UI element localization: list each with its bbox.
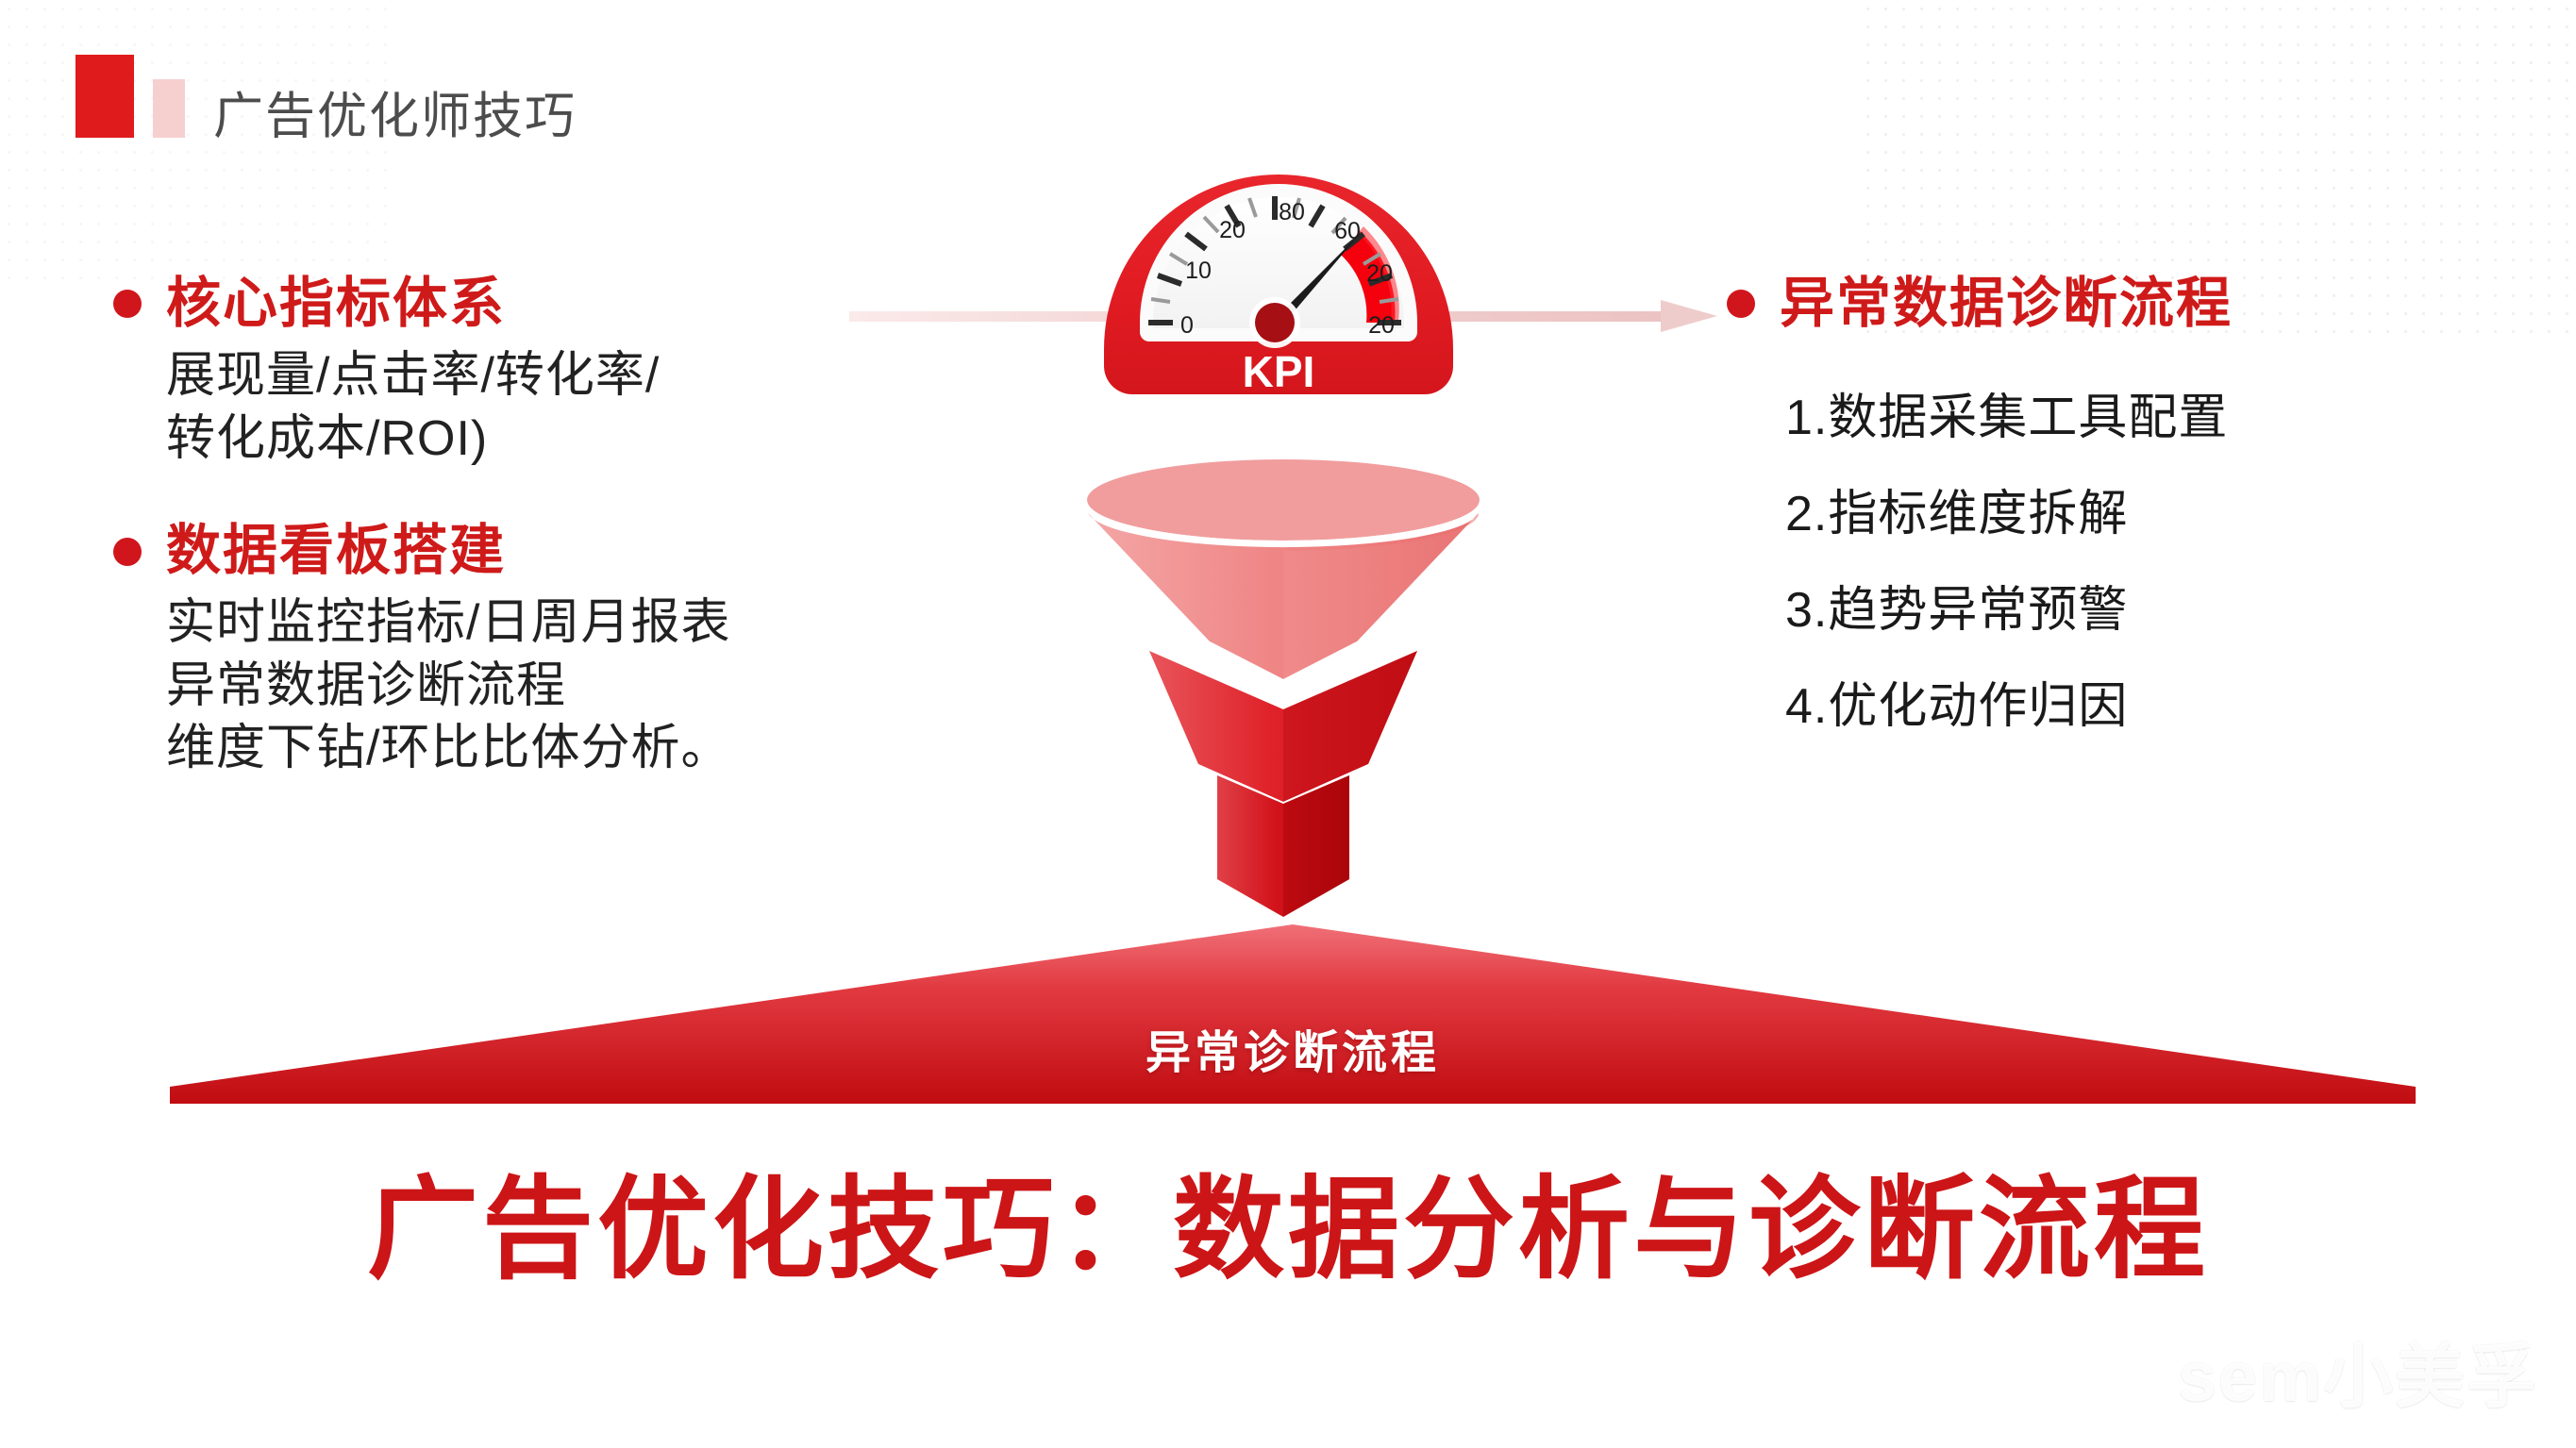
list-item: 1.数据采集工具配置: [1785, 393, 2557, 442]
left-block-body: 实时监控指标/日周月报表 异常数据诊断流程 维度下钻/环比比体分析。: [166, 591, 1076, 780]
process-banner: 异常诊断流程: [170, 924, 2416, 1104]
svg-text:10: 10: [1185, 258, 1212, 284]
bullet-icon: [113, 290, 142, 318]
svg-text:20: 20: [1368, 312, 1395, 339]
header-accent-bar-solid: [75, 55, 134, 138]
svg-text:60: 60: [1334, 218, 1361, 244]
left-block-heading: 数据看板搭建: [113, 521, 1076, 582]
right-block-heading: 异常数据诊断流程: [1727, 274, 2557, 335]
list-item: 4.优化动作归因: [1785, 682, 2557, 731]
left-block-dashboard: 数据看板搭建 实时监控指标/日周月报表 异常数据诊断流程 维度下钻/环比比体分析…: [113, 521, 1076, 780]
slide-canvas: 广告优化师技巧: [0, 0, 2576, 1448]
watermark: sem小美孚: [2178, 1321, 2538, 1422]
page-title: 广告优化技巧：数据分析与诊断流程: [0, 1174, 2576, 1286]
bullet-icon: [1727, 290, 1755, 318]
left-block-body: 展现量/点击率/转化率/ 转化成本/ROI): [166, 344, 1076, 470]
header: 广告优化师技巧: [75, 55, 577, 138]
arrow-head-icon: [1661, 300, 1717, 332]
header-accent-bar-tint: [153, 79, 185, 138]
left-content-column: 核心指标体系 展现量/点击率/转化率/ 转化成本/ROI) 数据看板搭建 实时监…: [113, 274, 1076, 831]
funnel-icon: [1085, 453, 1481, 924]
diagnosis-steps-list: 1.数据采集工具配置 2.指标维度拆解 3.趋势异常预警 4.优化动作归因: [1785, 393, 2557, 731]
svg-text:20: 20: [1219, 217, 1246, 243]
left-block-title: 数据看板搭建: [166, 521, 506, 582]
right-block-title: 异常数据诊断流程: [1780, 274, 2233, 335]
kpi-gauge: 0 10 20 80 60 20 20 KPI: [1095, 66, 1463, 415]
kpi-gauge-label: KPI: [1243, 347, 1315, 396]
conversion-funnel: [1085, 453, 1481, 924]
body-line: 实时监控指标/日周月报表: [166, 591, 1076, 655]
right-content-column: 异常数据诊断流程 1.数据采集工具配置 2.指标维度拆解 3.趋势异常预警 4.…: [1727, 274, 2557, 778]
left-block-heading: 核心指标体系: [113, 274, 1076, 335]
body-line: 维度下钻/环比比体分析。: [166, 717, 1076, 780]
list-item: 2.指标维度拆解: [1785, 490, 2557, 539]
body-line: 转化成本/ROI): [166, 408, 1076, 471]
svg-text:20: 20: [1366, 260, 1393, 287]
svg-text:0: 0: [1180, 312, 1194, 339]
body-line: 展现量/点击率/转化率/: [166, 344, 1076, 408]
header-title: 广告优化师技巧: [213, 92, 577, 141]
left-block-title: 核心指标体系: [166, 274, 506, 335]
bullet-icon: [113, 538, 142, 566]
body-line: 异常数据诊断流程: [166, 655, 1076, 718]
left-block-core-metrics: 核心指标体系 展现量/点击率/转化率/ 转化成本/ROI): [113, 274, 1076, 470]
banner-label: 异常诊断流程: [170, 1015, 2416, 1081]
list-item: 3.趋势异常预警: [1785, 586, 2557, 635]
kpi-gauge-icon: 0 10 20 80 60 20 20 KPI: [1095, 66, 1463, 415]
svg-text:80: 80: [1279, 199, 1305, 225]
